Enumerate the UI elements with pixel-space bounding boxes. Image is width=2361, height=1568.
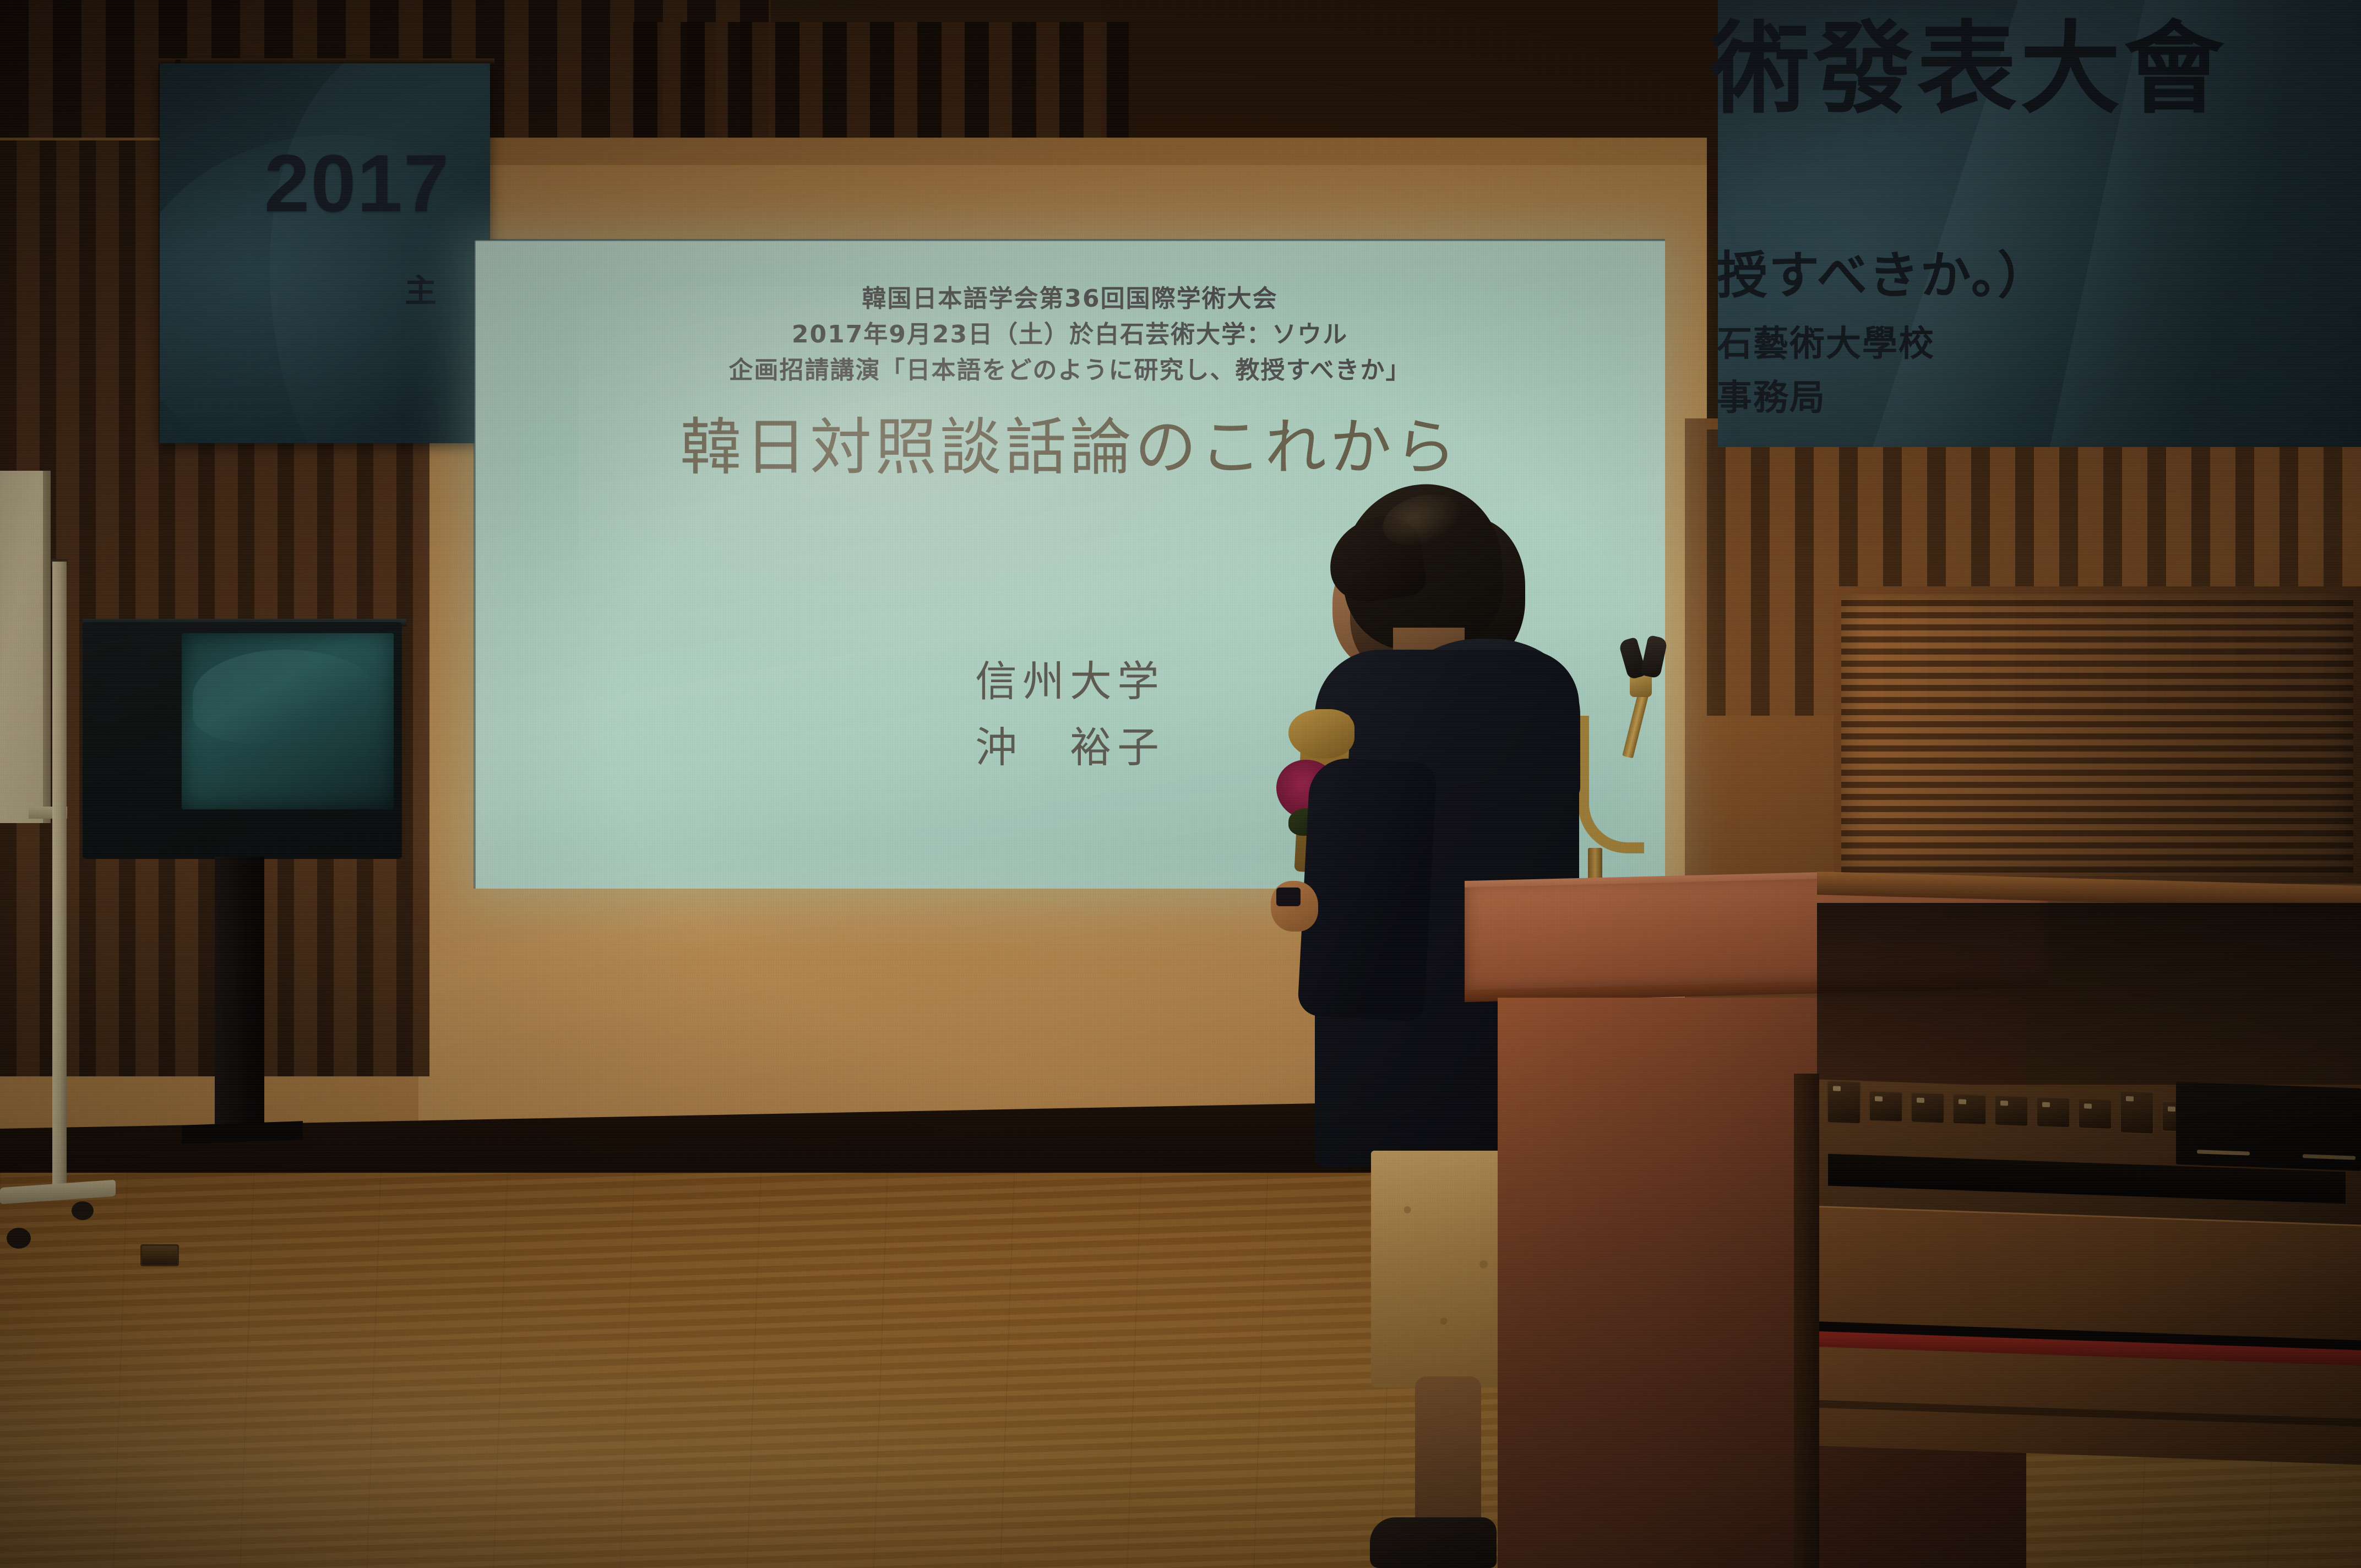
right-banner-subtitle: 授すべきか。） [1717,251,2049,301]
console-button-4[interactable] [1952,1093,1987,1125]
whiteboard-edge [43,471,51,823]
whiteboard-caster-right [72,1201,94,1220]
slide-header-line-3: 企画招請講演「日本語をどのように研究し、教授すべきか」 [475,352,1665,388]
console-button-1[interactable] [1827,1080,1861,1124]
cabinet-left-post [1794,1074,1819,1568]
right-banner-office: 事務局 [1717,380,1826,415]
slide-header-line-1: 韓国日本語学会第36回国際学術大会 [475,281,1665,317]
floor-bracket [140,1244,179,1266]
slide-header-block: 韓国日本語学会第36回国際学術大会 2017年9月23日（土）於白石芸術大学：ソ… [475,281,1665,388]
floor-reflection [0,1266,1211,1568]
right-banner-university: 石藝術大學校 [1717,326,1935,361]
left-conference-banner [160,63,490,443]
left-banner-partial-text: 主 [405,275,436,307]
console-button-2[interactable] [1869,1091,1903,1123]
monitor-stand-column [215,857,264,1132]
left-banner-swoosh-2 [270,63,490,443]
right-banner-title: 術發表大會 [1710,17,2227,122]
presenter-clicker [1276,888,1301,906]
console-button-3[interactable] [1911,1092,1945,1124]
left-banner-year: 2017 [264,143,450,225]
screen-top-edge [475,239,1665,241]
slide-header-line-2: 2017年9月23日（土）於白石芸術大学：ソウル [475,317,1665,352]
whiteboard-caster-left [7,1228,31,1249]
console-button-5[interactable] [1994,1095,2028,1127]
cabinet-shadow-recess [1817,903,2361,1085]
presenter-arm [1297,756,1437,1021]
whiteboard [0,471,50,823]
ceiling-slats-right [633,22,1129,149]
conference-hall-scene: 2017 主 術發表大會 授すべきか。） 石藝術大學校 事務局 韓国日本語学会第… [0,0,2361,1568]
presenter-leg [1415,1376,1481,1536]
presenter-shoe [1370,1517,1497,1568]
whiteboard-post [52,562,67,1189]
crt-monitor-reflection [193,650,380,743]
console-button-8[interactable] [2120,1091,2154,1135]
corsage-bow [1288,709,1354,759]
slide-title: 韓日対照談話論のこれから [475,414,1665,482]
console-button-7[interactable] [2078,1098,2112,1130]
cabinet-shutter-shading [1834,586,2361,884]
console-button-6[interactable] [2036,1096,2070,1128]
